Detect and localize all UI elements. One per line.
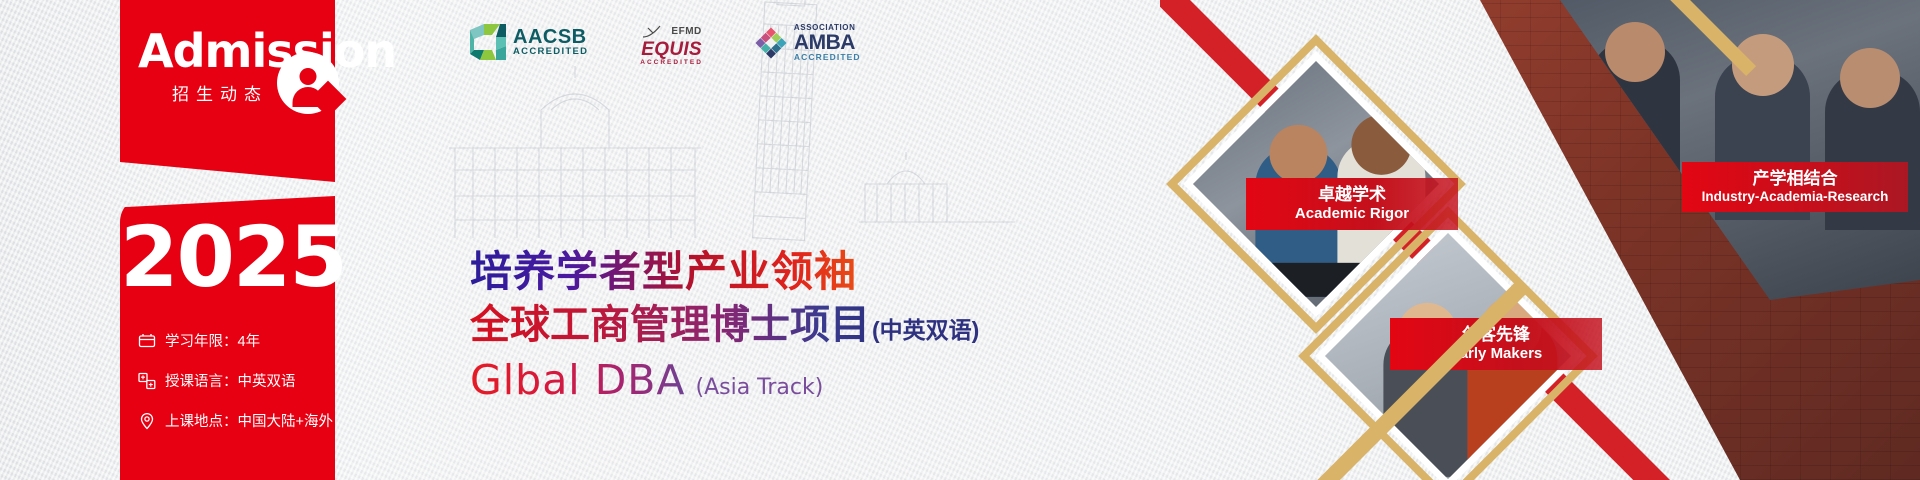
equis-sub: ACCREDITED xyxy=(640,60,703,67)
headline-program-en: Glbal DBA (Asia Track) xyxy=(470,356,1090,404)
translate-icon xyxy=(138,372,156,390)
highlight-caption-early-makers: 创客先锋 Early Makers xyxy=(1390,318,1602,370)
highlight-caption-academic-rigor: 卓越学术 Academic Rigor xyxy=(1246,178,1458,230)
highlight-caption-industry-academia: 产学相结合 Industry-Academia-Research xyxy=(1682,162,1908,212)
accreditation-aacsb: AACSB ACCREDITED xyxy=(470,24,588,60)
info-row-duration: 学习年限：4年 xyxy=(138,330,338,351)
equis-top: EFMD xyxy=(640,24,703,40)
brand-logo: Admission 招生动态 xyxy=(120,28,335,120)
year-label: 2025 xyxy=(120,215,335,299)
highlight-cn-1: 卓越学术 xyxy=(1260,185,1444,205)
headline-program-main: 全球工商管理博士项目 xyxy=(470,303,870,347)
aacsb-sub: ACCREDITED xyxy=(513,47,588,57)
accreditation-amba: ASSOCIATION AMBA ACCREDITED xyxy=(755,24,861,62)
highlight-en-1: Academic Rigor xyxy=(1260,205,1444,223)
amba-text: ASSOCIATION AMBA ACCREDITED xyxy=(794,24,861,62)
amba-name: AMBA xyxy=(794,32,861,53)
highlight-en-3: Early Makers xyxy=(1404,345,1588,363)
headline-block: 培养学者型产业领袖 全球工商管理博士项目 (中英双语) Glbal DBA (A… xyxy=(470,248,1090,404)
brand-logo-en: Admission xyxy=(138,28,396,74)
amba-diamond-icon xyxy=(755,27,787,59)
brand-logo-cn: 招生动态 xyxy=(172,80,268,105)
aacsb-text: AACSB ACCREDITED xyxy=(513,27,588,57)
accreditation-logos: AACSB ACCREDITED EFMD EQUIS ACCREDITED xyxy=(470,24,861,67)
admission-banner: Admission 招生动态 2025 学习年限：4年 xyxy=(0,0,1920,480)
headline-program-sub: (中英双语) xyxy=(872,318,979,343)
highlight-en-2: Industry-Academia-Research xyxy=(1696,189,1894,205)
highlight-cn-3: 创客先锋 xyxy=(1404,325,1588,345)
program-info-list: 学习年限：4年 授课语言：中英双语 xyxy=(138,330,338,450)
efmd-swoosh-icon xyxy=(641,24,667,40)
aacsb-cube-icon xyxy=(470,24,506,60)
photo-collage: 卓越学术 Academic Rigor 产学相结合 Industry-Acade… xyxy=(1160,0,1920,480)
efmd-label: EFMD xyxy=(671,27,701,38)
headline-program-en-main: Glbal DBA xyxy=(470,356,685,404)
info-row-language: 授课语言：中英双语 xyxy=(138,370,338,391)
info-row-location-text: 上课地点：中国大陆+海外 xyxy=(165,410,333,431)
headline-tagline: 培养学者型产业领袖 xyxy=(470,248,1090,295)
location-pin-icon xyxy=(138,412,156,430)
calendar-icon xyxy=(138,332,156,350)
headline-program: 全球工商管理博士项目 (中英双语) xyxy=(470,303,1090,347)
highlight-cn-2: 产学相结合 xyxy=(1696,169,1894,189)
info-row-duration-text: 学习年限：4年 xyxy=(165,330,260,351)
info-row-location: 上课地点：中国大陆+海外 xyxy=(138,410,338,431)
headline-program-en-sub: (Asia Track) xyxy=(695,375,823,400)
aacsb-name: AACSB xyxy=(513,27,588,47)
left-red-panel: Admission 招生动态 2025 学习年限：4年 xyxy=(120,0,335,480)
equis-name: EQUIS xyxy=(640,40,703,60)
accreditation-equis: EFMD EQUIS ACCREDITED xyxy=(640,24,703,67)
info-row-language-text: 授课语言：中英双语 xyxy=(165,370,296,391)
amba-sub: ACCREDITED xyxy=(794,53,861,62)
